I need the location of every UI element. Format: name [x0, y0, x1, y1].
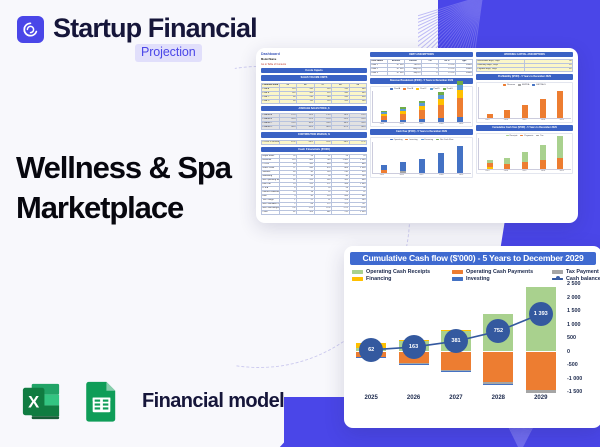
dashboard-left-column: Dashboard Model Name Go to Table of Cont…	[261, 52, 367, 219]
legend-item-operating-cash-receipts: Operating Cash Receipts	[352, 269, 448, 275]
cashflow-mini-header: Cash flow ($'000) - 5 Years to December …	[370, 129, 473, 134]
y-tick-label: -500	[567, 362, 578, 368]
profitability-legend: Revenue EBITDA EBITDA %	[478, 84, 571, 86]
sales-volume-table: Product/Period2526272829 Prod A120190250…	[261, 83, 367, 104]
brand-name: Startup Financial	[53, 13, 257, 43]
debt-assumptions-table: Debt NameAmountLaunchYrsInt %Type Debt 1…	[370, 59, 473, 76]
cashflow-mini-legend: Operating Investing Financing Net Cash F…	[372, 139, 471, 141]
contribution-margin-table: COGS % of Revenue41%40%39%38%37%	[261, 140, 367, 145]
x-tick-label: 2028	[481, 395, 515, 401]
brand-sub-badge: Projection	[135, 44, 202, 62]
y-tick-label: -1 500	[567, 389, 582, 395]
dashboard-right-column: WORKING CAPITAL ASSUMPTIONS Receivable d…	[476, 52, 573, 219]
cash-financials-table: Royal Rows2526272829 Revenue1204007801 4…	[261, 154, 367, 215]
avg-price-header: AVERAGE SALES PRICE, $	[261, 106, 367, 111]
swirl-e-logo-icon	[17, 16, 44, 43]
cumulative-cashflow-mini-plot	[478, 138, 571, 170]
dashboard-preview-card[interactable]: Dashboard Model Name Go to Table of Cont…	[256, 48, 578, 223]
contribution-margin-header: CONTRIBUTION MARGIN, %	[261, 132, 367, 137]
profitability-x-labels: 20252026202720282029	[478, 119, 571, 121]
cumulative-cashflow-mini-chart[interactable]: Receipts Payments Tax 202520262027202820…	[476, 133, 573, 175]
cash-balance-node[interactable]: 752	[486, 319, 510, 343]
legend-label: Financing	[366, 276, 391, 282]
cashflow-mini-x-labels: 20252026202720282029	[372, 174, 471, 176]
dashboard-subtitle: Model Name	[261, 58, 367, 61]
x-tick-label: 2027	[439, 395, 473, 401]
sales-volume-header: SALES VOLUME UNITS	[261, 75, 367, 80]
legend-label: Operating Cash Receipts	[366, 269, 430, 275]
revenue-breakdown-plot	[372, 91, 471, 123]
profitability-plot	[478, 87, 571, 119]
format-badges: X Financial model	[18, 378, 284, 425]
y-tick-label: 0	[567, 349, 570, 355]
x-tick-label: 2025	[354, 395, 388, 401]
legend-item-tax-payment: Tax Payment	[552, 269, 600, 275]
y-tick-label: -1 000	[567, 376, 582, 382]
y-tick-label: 2 500	[567, 281, 581, 287]
legend-item-investing: Investing	[452, 276, 548, 282]
cash-balance-node[interactable]: 62	[359, 338, 383, 362]
legend-label: Tax Payment	[566, 269, 599, 275]
working-capital-header: WORKING CAPITAL ASSUMPTIONS	[476, 52, 573, 57]
cash-balance-node[interactable]: 163	[402, 335, 426, 359]
working-capital-table: Receivable days, Days30 Inventory days, …	[476, 59, 573, 72]
chart-legend: Operating Cash Receipts Operating Cash P…	[352, 269, 596, 282]
chart-x-axis: 20252026202720282029	[350, 395, 562, 401]
y-tick-label: 1 500	[567, 308, 581, 314]
cumulative-cashflow-mini-x-labels: 20252026202720282029	[478, 170, 571, 172]
x-tick-label: 2029	[524, 395, 558, 401]
y-tick-label: 1 000	[567, 322, 581, 328]
costs-inputs-header: Costs Inputs	[261, 68, 367, 73]
cashflow-mini-chart[interactable]: Operating Investing Financing Net Cash F…	[370, 137, 473, 179]
footer-label: Financial model	[142, 390, 284, 413]
x-tick-label: 2026	[397, 395, 431, 401]
chart-y-axis: 2 5002 0001 5001 0005000-500-1 000-1 500	[562, 284, 596, 392]
legend-item-financing: Financing	[352, 276, 448, 282]
y-tick-label: 500	[567, 335, 576, 341]
avg-price-table: Product A12.513.013.514.014.5 Product B2…	[261, 113, 367, 130]
cash-financials-header: Cash Financials ($'000)	[261, 147, 367, 152]
legend-label: Investing	[466, 276, 490, 282]
chart-title: Cumulative Cash flow ($'000) - 5 Years t…	[350, 252, 596, 265]
profitability-header: Profitability ($'000) - 5 Years to Decem…	[476, 74, 573, 79]
page-title: Wellness & Spa Marketplace	[16, 148, 246, 228]
poster-canvas: Startup Financial Projection Wellness & …	[0, 0, 600, 447]
cumulative-cashflow-mini-header: Cumulative Cash flow ($'000) - 5 Years t…	[476, 125, 573, 130]
cumulative-cashflow-chart-card[interactable]: Cumulative Cash flow ($'000) - 5 Years t…	[344, 246, 600, 428]
cash-balance-node[interactable]: 381	[444, 329, 468, 353]
cashflow-mini-plot	[372, 142, 471, 174]
dashboard-middle-column: DEBT ASSUMPTIONS Debt NameAmountLaunchYr…	[370, 52, 473, 219]
dashboard-title: Dashboard	[261, 52, 367, 56]
profitability-mini-chart[interactable]: Revenue EBITDA EBITDA % 2025202620272028…	[476, 82, 573, 124]
chart-plot-area: 621633817521 393	[350, 284, 562, 392]
google-sheets-icon	[78, 378, 125, 425]
legend-item-operating-cash-payments: Operating Cash Payments	[452, 269, 548, 275]
brand-header: Startup Financial Projection	[17, 13, 257, 62]
revenue-breakdown-x-labels: 20252026202720282029	[372, 123, 471, 125]
revenue-breakdown-mini-chart[interactable]: Prod A Prod B Prod C Prod D Prod E 20252…	[370, 86, 473, 128]
dashboard-toc-link[interactable]: Go to Table of Contents	[261, 63, 367, 66]
legend-label: Operating Cash Payments	[466, 269, 533, 275]
cash-balance-node[interactable]: 1 393	[529, 302, 553, 326]
y-tick-label: 2 000	[567, 295, 581, 301]
excel-icon: X	[18, 378, 65, 425]
svg-text:X: X	[28, 392, 39, 411]
debt-assumptions-header: DEBT ASSUMPTIONS	[370, 52, 473, 57]
